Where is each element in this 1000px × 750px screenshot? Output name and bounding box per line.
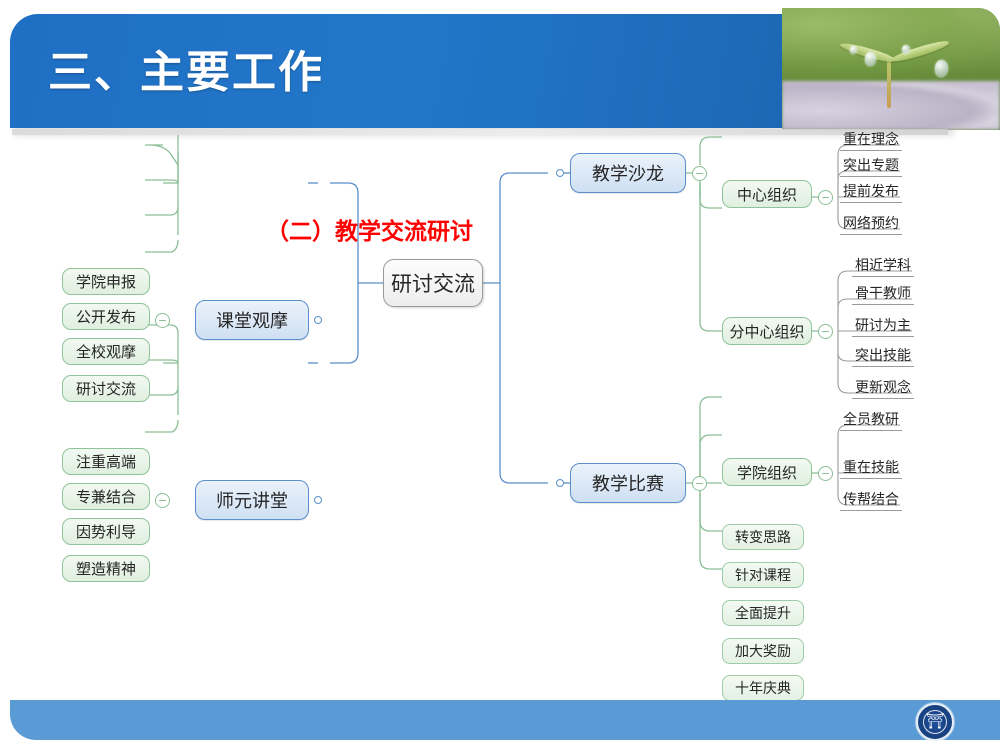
photo-foliage — [782, 8, 1000, 91]
group-node-fenzhongxinzuzhi[interactable]: 分中心组织 — [722, 317, 812, 345]
leaf-node-quanyuanjiaoyan[interactable]: 全员教研 — [840, 410, 902, 431]
branch-node-jiaoxuebisai[interactable]: 教学比赛 — [570, 463, 686, 503]
branch-joint-right-bottom[interactable] — [556, 479, 564, 487]
branch-node-shiyuanjiangtang[interactable]: 师元讲堂 — [195, 480, 309, 520]
university-logo-icon: ⛩ — [916, 703, 954, 741]
leaf-node-chuanbangjiehe[interactable]: 传帮结合 — [840, 490, 902, 511]
water-drop-icon — [865, 52, 876, 66]
collapse-toggle-xueyuanzuzhi[interactable] — [818, 466, 833, 481]
leaf-node-gongkaifabu[interactable]: 公开发布 — [62, 303, 150, 330]
leaf-node-shinianqingdian[interactable]: 十年庆典 — [722, 675, 804, 701]
leaf-node-xiangjinxueke[interactable]: 相近学科 — [852, 256, 914, 277]
branch-joint-right-top[interactable] — [556, 169, 564, 177]
leaf-node-quanxiaoguanmo[interactable]: 全校观摩 — [62, 338, 150, 365]
branch-node-ketangguanmo[interactable]: 课堂观摩 — [195, 300, 309, 340]
sprout-stem-icon — [887, 57, 891, 108]
branch-joint-left-bottom[interactable] — [314, 496, 322, 504]
collapse-toggle-ketangguanmo[interactable] — [155, 313, 170, 328]
leaf-node-zhongzaijineng[interactable]: 重在技能 — [840, 458, 902, 479]
leaf-node-quanmiantisheng[interactable]: 全面提升 — [722, 600, 804, 626]
leaf-node-yinshilidao[interactable]: 因势利导 — [62, 518, 150, 545]
leaf-node-zhuanjianjiehe[interactable]: 专兼结合 — [62, 483, 150, 510]
collapse-toggle-shiyuanjiangtang[interactable] — [155, 493, 170, 508]
leaf-node-zhuzhonggaoduan[interactable]: 注重高端 — [62, 448, 150, 475]
logo-glyph: ⛩ — [918, 712, 952, 730]
leaf-node-suzaojingshen[interactable]: 塑造精神 — [62, 555, 150, 582]
leaf-node-xueyuanshenbao[interactable]: 学院申报 — [62, 268, 150, 295]
sprout-photo — [782, 8, 1000, 130]
branch-joint-left-top[interactable] — [314, 316, 322, 324]
leaf-node-tuchujineng[interactable]: 突出技能 — [852, 346, 914, 367]
collapse-toggle-fenzhongxinzuzhi[interactable] — [818, 324, 833, 339]
mindmap-root-node[interactable]: 研讨交流 — [383, 259, 483, 307]
collapse-toggle-zhongxinzuzhi[interactable] — [818, 190, 833, 205]
leaf-node-gengxinguannian[interactable]: 更新观念 — [852, 378, 914, 399]
leaf-node-jiadajiangli[interactable]: 加大奖励 — [722, 638, 804, 664]
leaf-node-yantaojiaoliu[interactable]: 研讨交流 — [62, 375, 150, 402]
leaf-node-gugainjiaoshi[interactable]: 骨干教师 — [852, 284, 914, 305]
photo-stones — [782, 81, 1000, 130]
water-drop-icon — [902, 45, 910, 54]
leaf-node-zhenduikecheng[interactable]: 针对课程 — [722, 562, 804, 588]
leaf-node-yantaoweizhu[interactable]: 研讨为主 — [852, 316, 914, 337]
collapse-toggle-jiaoxueshalong[interactable] — [692, 166, 707, 181]
leaf-node-tiqianfabu[interactable]: 提前发布 — [840, 182, 902, 203]
branch-node-jiaoxueshalong[interactable]: 教学沙龙 — [570, 153, 686, 193]
page-title: 三、主要工作 — [48, 36, 324, 100]
leaf-node-wangluoyuyue[interactable]: 网络预约 — [840, 214, 902, 235]
collapse-toggle-jiaoxuebisai[interactable] — [692, 476, 707, 491]
leaf-node-tuchuzhuanti[interactable]: 突出专题 — [840, 156, 902, 177]
group-node-zhongxinzuzhi[interactable]: 中心组织 — [722, 180, 812, 208]
water-drop-icon — [850, 46, 857, 54]
slide-canvas: 三、主要工作 （二）教学交流研讨 — [0, 0, 1000, 750]
group-node-xueyuanzuzhi[interactable]: 学院组织 — [722, 458, 812, 486]
leaf-node-zhuanbiansilu[interactable]: 转变思路 — [722, 524, 804, 550]
leaf-node-zhongzaililian[interactable]: 重在理念 — [840, 130, 902, 151]
footer-band — [10, 700, 1000, 740]
